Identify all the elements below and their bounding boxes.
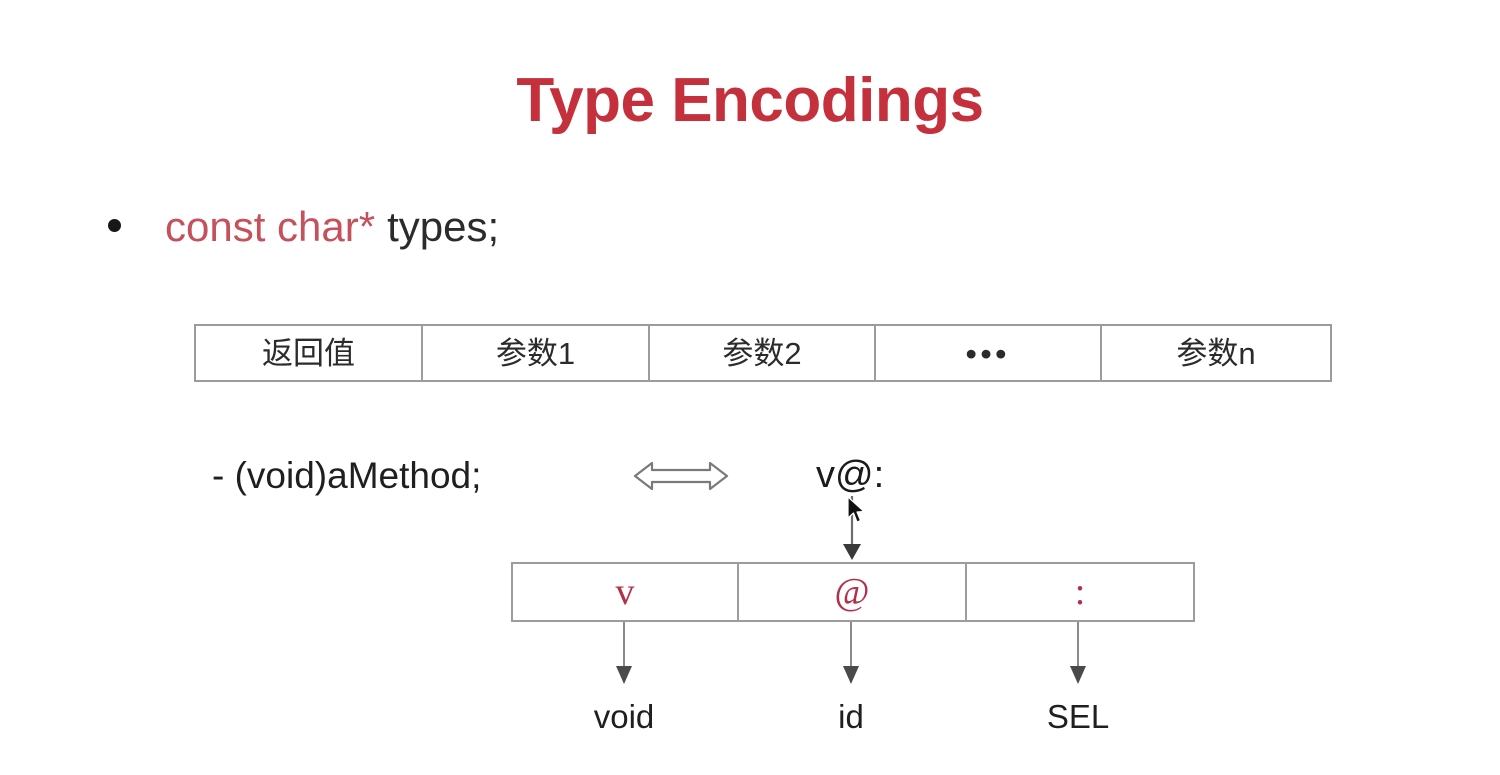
signature-layout-table: 返回值 参数1 参数2 ••• 参数n (194, 324, 1332, 382)
const-char-pointer-text: const char* (165, 203, 375, 251)
table-cell-ellipsis: ••• (876, 326, 1102, 380)
table-cell-param-2: 参数2 (650, 326, 876, 380)
drop-arrow-void-icon (612, 622, 636, 686)
encoding-characters-table: v @ : (511, 562, 1195, 622)
table-cell-return-value: 返回值 (196, 326, 423, 380)
double-headed-arrow-icon (632, 458, 730, 494)
bullet-dot-icon (108, 219, 121, 232)
method-signature-text: - (void)aMethod; (212, 455, 481, 497)
drop-arrow-sel-icon (1066, 622, 1090, 686)
encoded-string-text: v@: (816, 454, 884, 497)
table-cell-param-1: 参数1 (423, 326, 650, 380)
encoding-cell-v: v (513, 564, 739, 620)
watermark-text (1186, 138, 1376, 160)
encoding-cell-colon: : (967, 564, 1193, 620)
drop-arrow-id-icon (839, 622, 863, 686)
leaf-label-id: id (751, 698, 951, 736)
types-text: types; (387, 203, 499, 251)
page-title: Type Encodings (0, 68, 1500, 133)
bullet-line: const char* types; (108, 203, 499, 251)
table-cell-param-n: 参数n (1102, 326, 1330, 380)
connector-arrow-down-icon (838, 496, 866, 562)
slide-canvas: Type Encodings const char* types; 返回值 参数… (0, 0, 1500, 775)
encoding-cell-at: @ (739, 564, 967, 620)
leaf-label-sel: SEL (978, 698, 1178, 736)
leaf-label-void: void (524, 698, 724, 736)
